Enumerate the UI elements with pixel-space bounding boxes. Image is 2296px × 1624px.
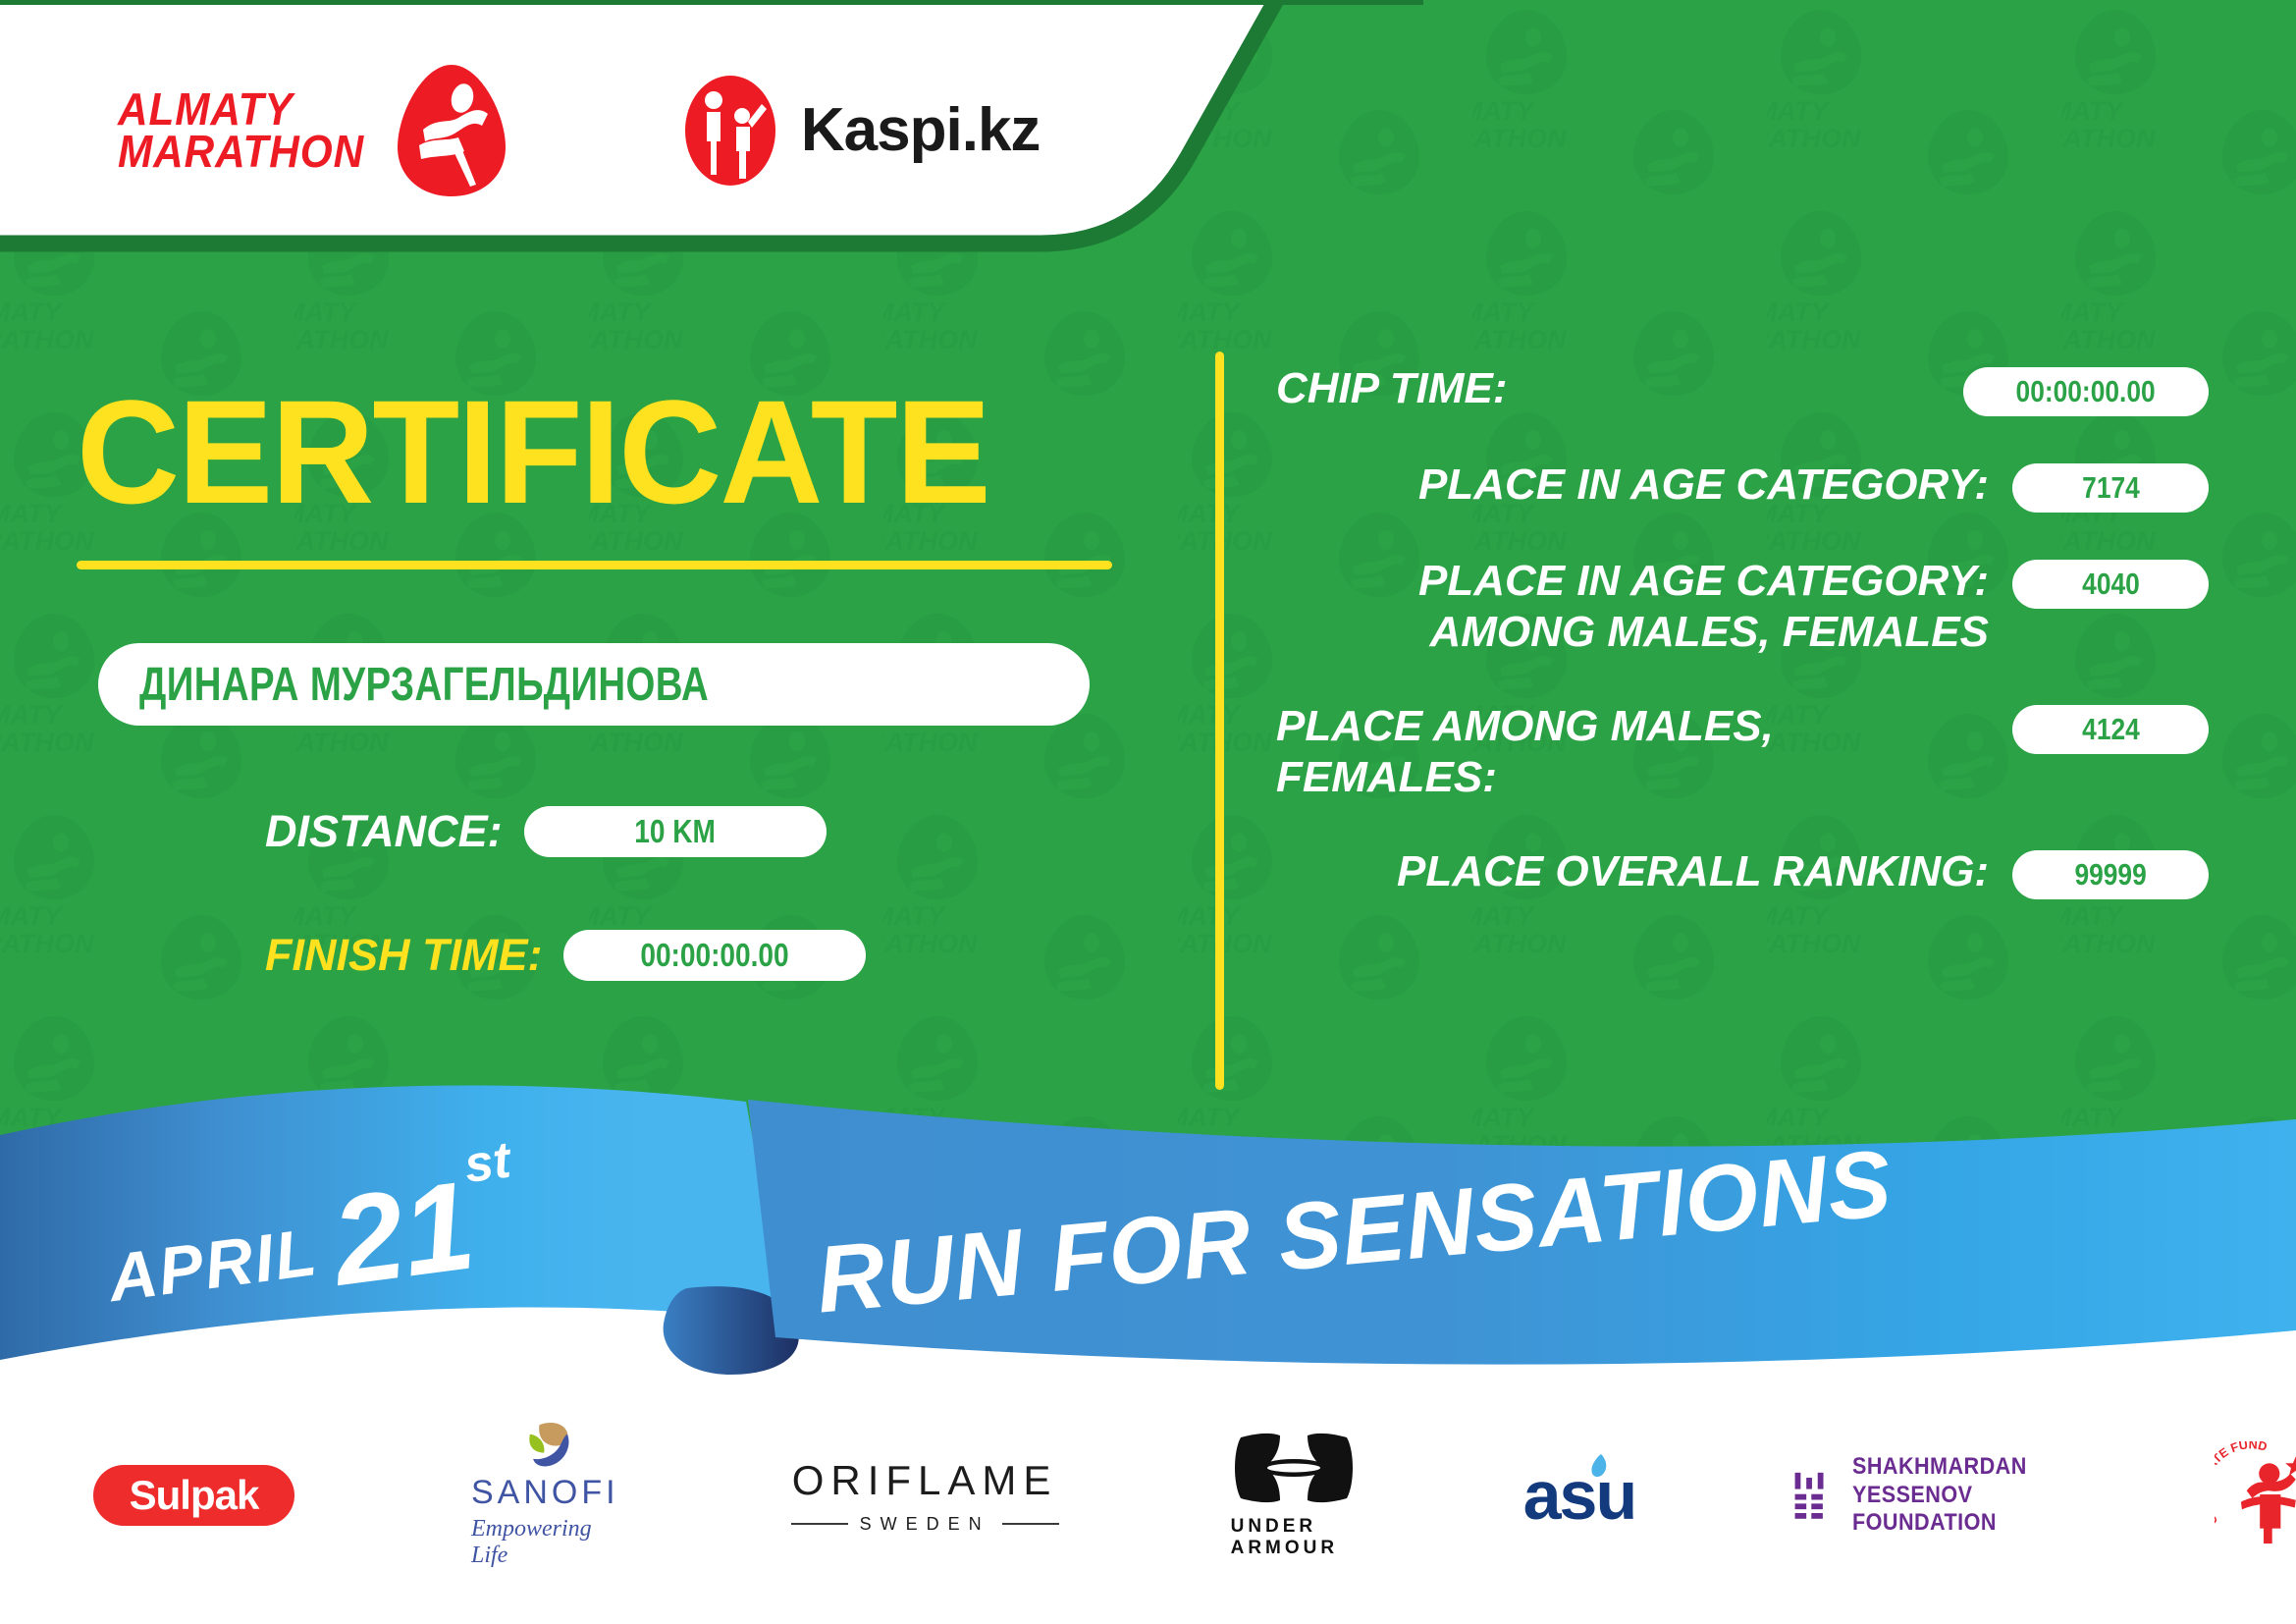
yessenov-wordmark: SHAKHMARDAN YESSENOV FOUNDATION [1852, 1453, 2067, 1538]
chip-time-value: 00:00:00.00 [2016, 374, 2156, 409]
oriflame-country: SWEDEN [860, 1514, 990, 1535]
place-among-gender-value: 4124 [2082, 712, 2140, 747]
yessenov-line1: SHAKHMARDAN YESSENOV [1852, 1453, 2046, 1510]
page-title: CERTIFICATE [77, 378, 1105, 525]
place-overall-value: 99999 [2074, 857, 2146, 893]
oriflame-rule-right [1002, 1523, 1059, 1525]
asu-text: asu [1523, 1457, 1636, 1534]
running-figure-drop-icon [394, 61, 509, 200]
sponsor-under-armour: UNDER ARMOUR [1231, 1422, 1357, 1569]
place-age-category-gender-value: 4040 [2082, 567, 2140, 602]
kaspi-wordmark: Kaspi.kz [801, 95, 1041, 165]
sponsor-yessenov-foundation: SHAKHMARDAN YESSENOV FOUNDATION [1792, 1422, 2067, 1569]
place-among-gender-value-pill: 4124 [2012, 705, 2209, 754]
oriflame-rule-left [791, 1523, 848, 1525]
left-fields-list: DISTANCE: 10 KM FINISH TIME: 00:00:00.00 [265, 797, 1148, 1045]
under-armour-mark-icon [1231, 1432, 1357, 1506]
two-figures-oval-icon [681, 73, 779, 189]
sanofi-wordmark: SANOFI [471, 1474, 619, 1512]
place-age-category-value: 7174 [2082, 470, 2140, 506]
participant-name-value: ДИНАРА МУРЗАГЕЛЬДИНОВА [139, 658, 709, 712]
almaty-logo-line2: MARATHON [118, 131, 364, 172]
field-row-place-age-category: PLACE IN AGE CATEGORY: 7174 [1276, 460, 2209, 513]
field-row-chip-time: CHIP TIME: 00:00:00.00 [1276, 363, 2209, 416]
sulpak-wordmark: Sulpak [130, 1472, 259, 1519]
field-row-distance: DISTANCE: 10 KM [265, 797, 1148, 866]
column-divider [1215, 352, 1224, 1090]
yessenov-line2: FOUNDATION [1852, 1509, 2046, 1538]
almaty-marathon-logo: ALMATY MARATHON [118, 61, 509, 200]
yessenov-bars-icon [1792, 1458, 1831, 1533]
participant-name-field: ДИНАРА МУРЗАГЕЛЬДИНОВА [98, 643, 1090, 726]
event-month: APRIL [104, 1214, 322, 1317]
asu-droplet-icon [1585, 1452, 1611, 1482]
field-row-place-overall: PLACE OVERALL RANKING: 99999 [1276, 846, 2209, 899]
place-age-category-value-pill: 7174 [2012, 463, 2209, 513]
oriflame-sub: SWEDEN [791, 1514, 1059, 1535]
sanofi-mark-icon [508, 1422, 581, 1470]
field-row-place-among-gender: PLACE AMONG MALES, FEMALES: 4124 [1276, 701, 2209, 803]
header-logos: ALMATY MARATHON Kaspi.kz [0, 0, 1276, 260]
place-overall-label: PLACE OVERALL RANKING: [1276, 846, 1989, 897]
title-underline [77, 561, 1112, 569]
distance-value: 10 KM [634, 813, 716, 850]
courage-runner-icon: CORPORATE FUND [2215, 1441, 2296, 1549]
place-age-category-gender-value-pill: 4040 [2012, 560, 2209, 609]
place-age-category-gender-label: PLACE IN AGE CATEGORY: AMONG MALES, FEMA… [1276, 556, 1989, 658]
kaspi-logo: Kaspi.kz [681, 73, 1041, 189]
field-row-finish-time: FINISH TIME: 00:00:00.00 [265, 921, 1148, 990]
oriflame-wordmark: ORIFLAME [792, 1457, 1058, 1504]
place-age-category-label: PLACE IN AGE CATEGORY: [1276, 460, 1989, 511]
place-among-gender-label: PLACE AMONG MALES, FEMALES: [1276, 701, 1989, 803]
almaty-logo-line1: ALMATY [118, 88, 294, 130]
certificate-canvas: ALMATY MARATHON ALMATY MARATHON [0, 0, 2296, 1624]
sulpak-logo: Sulpak [93, 1465, 294, 1526]
asu-wordmark: asu [1523, 1456, 1636, 1535]
place-overall-value-pill: 99999 [2012, 850, 2209, 899]
event-day-ordinal: st [461, 1130, 514, 1195]
chip-time-value-pill: 00:00:00.00 [1963, 367, 2209, 416]
right-fields-list: CHIP TIME: 00:00:00.00 PLACE IN AGE CATE… [1276, 363, 2209, 943]
distance-label: DISTANCE: [265, 806, 503, 857]
finish-time-value: 00:00:00.00 [641, 937, 789, 974]
under-armour-wordmark: UNDER ARMOUR [1231, 1516, 1357, 1559]
certificate-title-block: CERTIFICATE [77, 378, 1137, 569]
sponsor-courage-fund: CORPORATE FUND COURAGE TO BE THE FIRST! [2215, 1422, 2296, 1569]
event-day: 21 [327, 1172, 479, 1296]
finish-time-value-pill: 00:00:00.00 [563, 930, 866, 981]
sponsor-strip: Sulpak SANOFI Empowering Life ORIFLAME S… [0, 1422, 2296, 1569]
sanofi-tagline: Empowering Life [471, 1516, 619, 1569]
sponsor-oriflame: ORIFLAME SWEDEN [791, 1422, 1059, 1569]
finish-time-label: FINISH TIME: [265, 930, 542, 981]
distance-value-pill: 10 KM [524, 806, 827, 857]
sponsor-sanofi: SANOFI Empowering Life [471, 1422, 619, 1569]
sponsor-asu: asu [1523, 1422, 1636, 1569]
sponsor-sulpak: Sulpak [93, 1422, 294, 1569]
chip-time-label: CHIP TIME: [1276, 363, 1940, 414]
field-row-place-age-category-gender: PLACE IN AGE CATEGORY: AMONG MALES, FEMA… [1276, 556, 2209, 658]
